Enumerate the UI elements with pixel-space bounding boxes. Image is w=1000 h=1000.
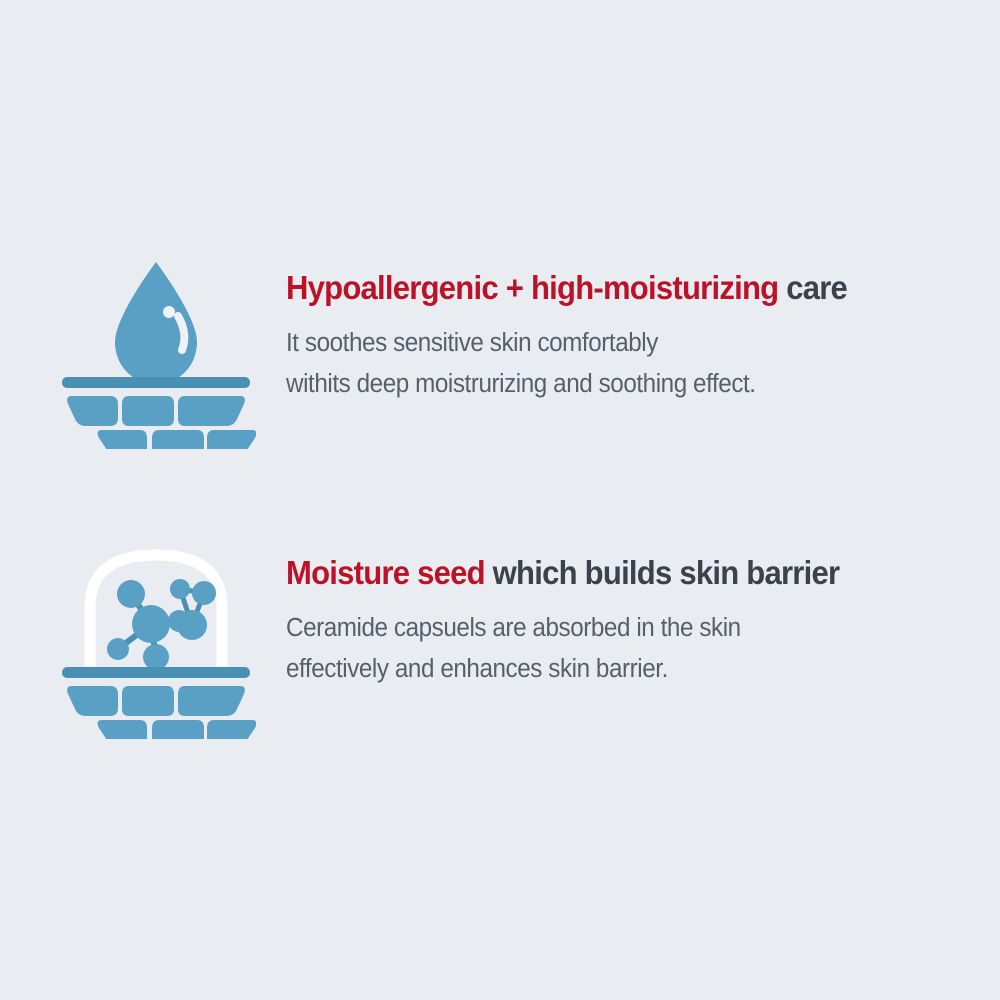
skin-layer-shape bbox=[62, 377, 256, 449]
feature-text-moisture-seed: Moisture seed which builds skin barrier … bbox=[260, 537, 976, 691]
feature-body-line: withits deep moistrurizing and soothing … bbox=[286, 364, 942, 405]
feature-heading: Hypoallergenic + high-moisturizing care bbox=[286, 270, 935, 307]
water-droplet-skin-layer-icon bbox=[52, 252, 260, 449]
feature-heading: Moisture seed which builds skin barrier bbox=[286, 555, 935, 592]
capsule-skin-svg bbox=[56, 539, 256, 739]
feature-block-hypoallergenic: Hypoallergenic + high-moisturizing care … bbox=[52, 252, 976, 449]
feature-heading-rest: which builds skin barrier bbox=[485, 554, 840, 591]
feature-block-moisture-seed: Moisture seed which builds skin barrier … bbox=[52, 537, 976, 739]
infographic-page: Hypoallergenic + high-moisturizing care … bbox=[0, 0, 1000, 1000]
feature-text-hypoallergenic: Hypoallergenic + high-moisturizing care … bbox=[260, 252, 976, 406]
moisture-capsule-skin-layer-icon bbox=[52, 537, 260, 739]
droplet-skin-svg bbox=[56, 254, 256, 449]
feature-heading-highlight: Moisture seed bbox=[286, 554, 485, 591]
droplet-shape bbox=[115, 262, 197, 384]
feature-body-line: Ceramide capsuels are absorbed in the sk… bbox=[286, 608, 942, 649]
skin-layer-shape bbox=[62, 667, 256, 739]
feature-body-line: It soothes sensitive skin comfortably bbox=[286, 323, 942, 364]
feature-heading-highlight: Hypoallergenic + high-moisturizing bbox=[286, 269, 778, 306]
feature-heading-rest: care bbox=[778, 269, 847, 306]
feature-body-line: effectively and enhances skin barrier. bbox=[286, 649, 942, 690]
